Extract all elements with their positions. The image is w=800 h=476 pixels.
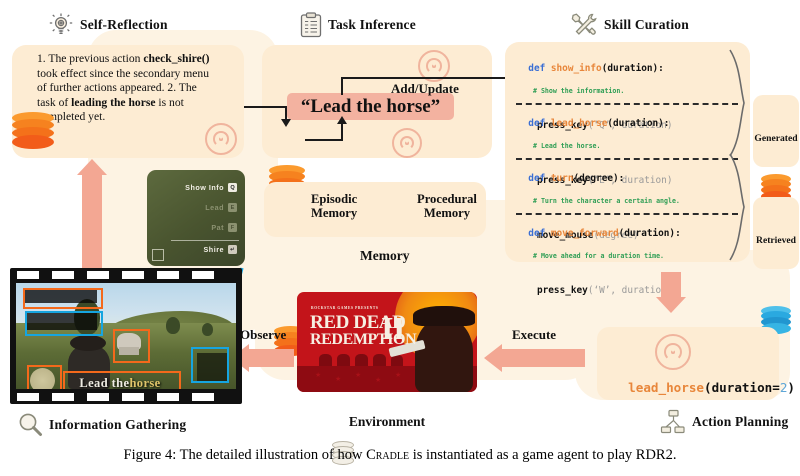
poster-rider-3 (355, 354, 368, 366)
flow-arrow-execute-head (484, 344, 502, 372)
poster-numeral: II (381, 312, 405, 344)
overlay-box-notice (23, 288, 103, 309)
section-header-task-inference: Task Inference (300, 12, 416, 38)
procedural-memory-label-line2: Memory (417, 206, 477, 220)
action-call-open: (duration= (704, 380, 780, 395)
menu-item-pat-label: Pat (211, 223, 224, 232)
skill-3-body-args: (‘W’, duration) (588, 285, 673, 296)
poster-star-3: ★ (355, 372, 361, 379)
self-reflection-title: Self-Reflection (80, 17, 168, 33)
edge-label-add-update: Add/Update (391, 81, 459, 97)
clipboard-icon (300, 12, 322, 38)
overlay-box-secondary-menu (191, 347, 229, 383)
action-call-fn: lead_horse (628, 380, 704, 395)
poster-cowboy (415, 318, 473, 392)
game-screenshot: Lead the horse (16, 283, 236, 389)
task-chip-label: “Lead the horse” (301, 96, 440, 118)
menu-item-show-info-key: Q (228, 183, 237, 192)
poster-star-4: ★ (375, 377, 381, 384)
episodic-memory-label: Episodic Memory (311, 192, 357, 220)
flow-arrow-observe-shaft (248, 349, 294, 367)
flow-arrow-skill-to-plan-shaft (661, 272, 681, 300)
caption-pre: Figure 4: The detailed illustration of h… (124, 447, 367, 463)
overlay-box-horse (113, 329, 150, 363)
menu-item-show-info-label: Show Info (185, 183, 224, 192)
skill-divider-0 (516, 103, 738, 105)
skill-0-comment: # Show the information. (517, 86, 739, 97)
overlay-box-subtitle (63, 371, 181, 389)
generated-label: Generated (753, 133, 799, 144)
task-chip-lead-the-horse: “Lead the horse” (287, 93, 454, 120)
skill-2-signature: (degree): (573, 173, 624, 184)
task-inference-title: Task Inference (328, 17, 416, 33)
skill-1-comment: # Lead the horse. (517, 141, 739, 152)
skill-0-signature: (duration): (602, 63, 664, 74)
connector-db-to-chip-v (341, 123, 343, 141)
menu-item-show-info[interactable]: Show Info Q (185, 183, 237, 192)
game-tree-2 (166, 317, 180, 334)
menu-item-lead[interactable]: Lead E (205, 203, 237, 212)
section-header-self-reflection: Self-Reflection (48, 12, 168, 38)
skill-curation-title: Skill Curation (604, 17, 689, 33)
action-planning-call: lead_horse(duration=2) (613, 371, 795, 394)
menu-item-shire-key: ↵ (228, 245, 237, 254)
magnifier-icon (18, 412, 43, 437)
poster-presents-text: ROCKSTAR GAMES PRESENTS (311, 307, 378, 311)
secondary-menu-popup: Show Info Q Lead E Pat F Shire ↵ (147, 170, 245, 266)
connector-reflection-to-db-h (244, 106, 287, 108)
generated-group-panel (753, 95, 799, 167)
poster-rider-1 (319, 354, 332, 366)
openai-watermark-reflection (205, 123, 237, 155)
figure-caption: Figure 4: The detailed illustration of h… (0, 447, 800, 464)
game-film-strip: Lead the horse (10, 268, 242, 404)
skill-3-comment: # Move ahead for a duration time. (517, 251, 739, 262)
skill-divider-1 (516, 158, 738, 160)
flow-label-execute: Execute (512, 327, 556, 343)
brace-retrieved (727, 152, 747, 262)
procedural-memory-label-line1: Procedural (417, 192, 477, 206)
caption-brand: Cradle (366, 447, 409, 463)
flow-arrow-execute-shaft (501, 349, 585, 367)
environment-title: Environment (297, 414, 477, 430)
menu-item-shire[interactable]: Shire ↵ (204, 245, 237, 254)
menu-item-lead-key: E (228, 203, 237, 212)
episodic-memory-label-line2: Memory (311, 206, 357, 220)
flow-arrow-gather-to-reflect-shaft (82, 172, 102, 268)
openai-watermark-action-planning (655, 334, 691, 370)
episodic-db-reflection-icon (12, 112, 54, 152)
procedural-memory-label: Procedural Memory (417, 192, 477, 220)
poster-rider-4 (373, 354, 386, 366)
section-header-skill-curation: Skill Curation (570, 12, 689, 38)
connector-db-to-chip-head (337, 116, 347, 124)
menu-item-pat[interactable]: Pat F (211, 223, 237, 232)
game-character-hat (70, 335, 106, 351)
overlay-box-minimap (27, 365, 62, 389)
skill-0-name: show_info (551, 63, 602, 74)
poster-cowboy-hat (413, 306, 475, 326)
flowchart-icon (660, 409, 686, 435)
section-header-action-planning: Action Planning (660, 409, 788, 435)
action-call-close: ) (787, 380, 795, 395)
connector-db-to-chip-h (305, 139, 343, 141)
connector-reflection-to-db-v (285, 106, 287, 120)
connector-addupdate-v (341, 77, 343, 95)
reflection-task-name: leading the horse (71, 96, 155, 109)
flow-arrow-skill-to-plan-head (656, 297, 686, 313)
tools-icon (570, 12, 598, 38)
retrieved-group-panel (753, 197, 799, 269)
brace-generated (727, 48, 747, 158)
poster-rider-2 (337, 354, 350, 366)
skill-2-comment: # Turn the character a certain angle. (517, 196, 739, 207)
skill-1-def: def (528, 118, 545, 129)
episodic-memory-label-line1: Episodic (311, 192, 357, 206)
lightbulb-icon (48, 12, 74, 38)
skill-3-def: def (528, 228, 545, 239)
skill-divider-2 (516, 213, 738, 215)
flow-label-observe: Observe (240, 327, 286, 343)
skill-0-def: def (528, 63, 545, 74)
poster-star-5: ★ (395, 372, 401, 379)
menu-item-lead-label: Lead (205, 203, 224, 212)
skill-3-name: move_forward (551, 228, 619, 239)
reflection-item1-part1: 1. The previous action (37, 52, 143, 65)
memory-title: Memory (360, 248, 409, 264)
section-header-information-gathering: Information Gathering (18, 412, 186, 437)
flow-arrow-gather-to-reflect-head (77, 159, 107, 175)
poster-star-1: ★ (315, 372, 321, 379)
poster-star-2: ★ (335, 376, 341, 383)
retrieved-label: Retrieved (753, 235, 799, 246)
skill-block-3: def move_forward(duration): # Move ahead… (517, 217, 739, 308)
skill-2-name: turn (551, 173, 574, 184)
overlay-box-item-card (25, 311, 103, 336)
menu-item-pat-key: F (228, 223, 237, 232)
skill-3-body-fn: press_key (537, 285, 588, 296)
skill-2-def: def (528, 173, 545, 184)
menu-corner-marker (152, 249, 164, 261)
reflection-action-name: check_shire() (143, 52, 209, 65)
skill-3-signature: (duration): (619, 228, 681, 239)
skill-1-signature: (duration): (607, 118, 669, 129)
connector-reflection-to-db-head (281, 119, 291, 127)
menu-item-shire-label: Shire (204, 245, 224, 254)
self-reflection-text: 1. The previous action check_shire() too… (37, 52, 217, 125)
action-planning-title: Action Planning (692, 414, 788, 430)
caption-post: is instantiated as a game agent to play … (409, 447, 676, 463)
skill-1-name: lead_horse (551, 118, 607, 129)
game-tree-3 (202, 323, 213, 336)
environment-poster: ★ ★ ★ ★ ★ ★ ROCKSTAR GAMES PRESENTS RED … (297, 292, 477, 392)
connector-addupdate-h (341, 77, 509, 79)
openai-watermark-ti-bottom (392, 128, 422, 158)
information-gathering-title: Information Gathering (49, 417, 186, 433)
